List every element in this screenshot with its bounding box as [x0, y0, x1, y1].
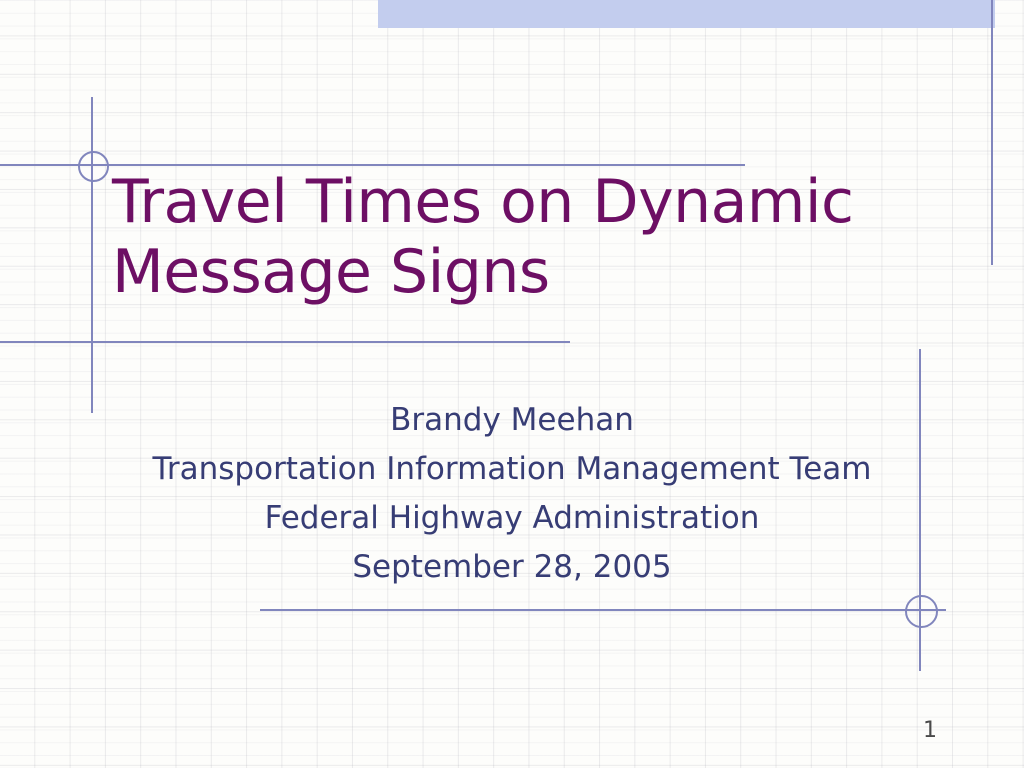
subtitle-block: Brandy Meehan Transportation Information…: [112, 396, 912, 592]
slide-number: 1: [915, 718, 945, 743]
slide-title: Travel Times on Dynamic Message Signs: [112, 167, 912, 307]
graph-paper-grid: [0, 0, 1024, 768]
subtitle-decorative-circle-icon: [905, 595, 938, 628]
title-block: Travel Times on Dynamic Message Signs: [112, 167, 912, 307]
subtitle-line-team: Transportation Information Management Te…: [112, 445, 912, 494]
subtitle-line-organization: Federal Highway Administration: [112, 494, 912, 543]
title-top-rule: [0, 164, 745, 166]
subtitle-bottom-rule: [260, 609, 946, 611]
slide-canvas: Travel Times on Dynamic Message Signs Br…: [0, 0, 1024, 768]
title-decorative-circle-icon: [78, 151, 109, 182]
title-left-rule: [91, 97, 93, 413]
banner-right-rule: [991, 0, 993, 265]
title-bottom-rule: [0, 341, 570, 343]
subtitle-line-date: September 28, 2005: [112, 543, 912, 592]
graph-paper-grid-fine: [0, 0, 1024, 768]
top-blue-banner: [378, 0, 995, 28]
subtitle-line-author: Brandy Meehan: [112, 396, 912, 445]
